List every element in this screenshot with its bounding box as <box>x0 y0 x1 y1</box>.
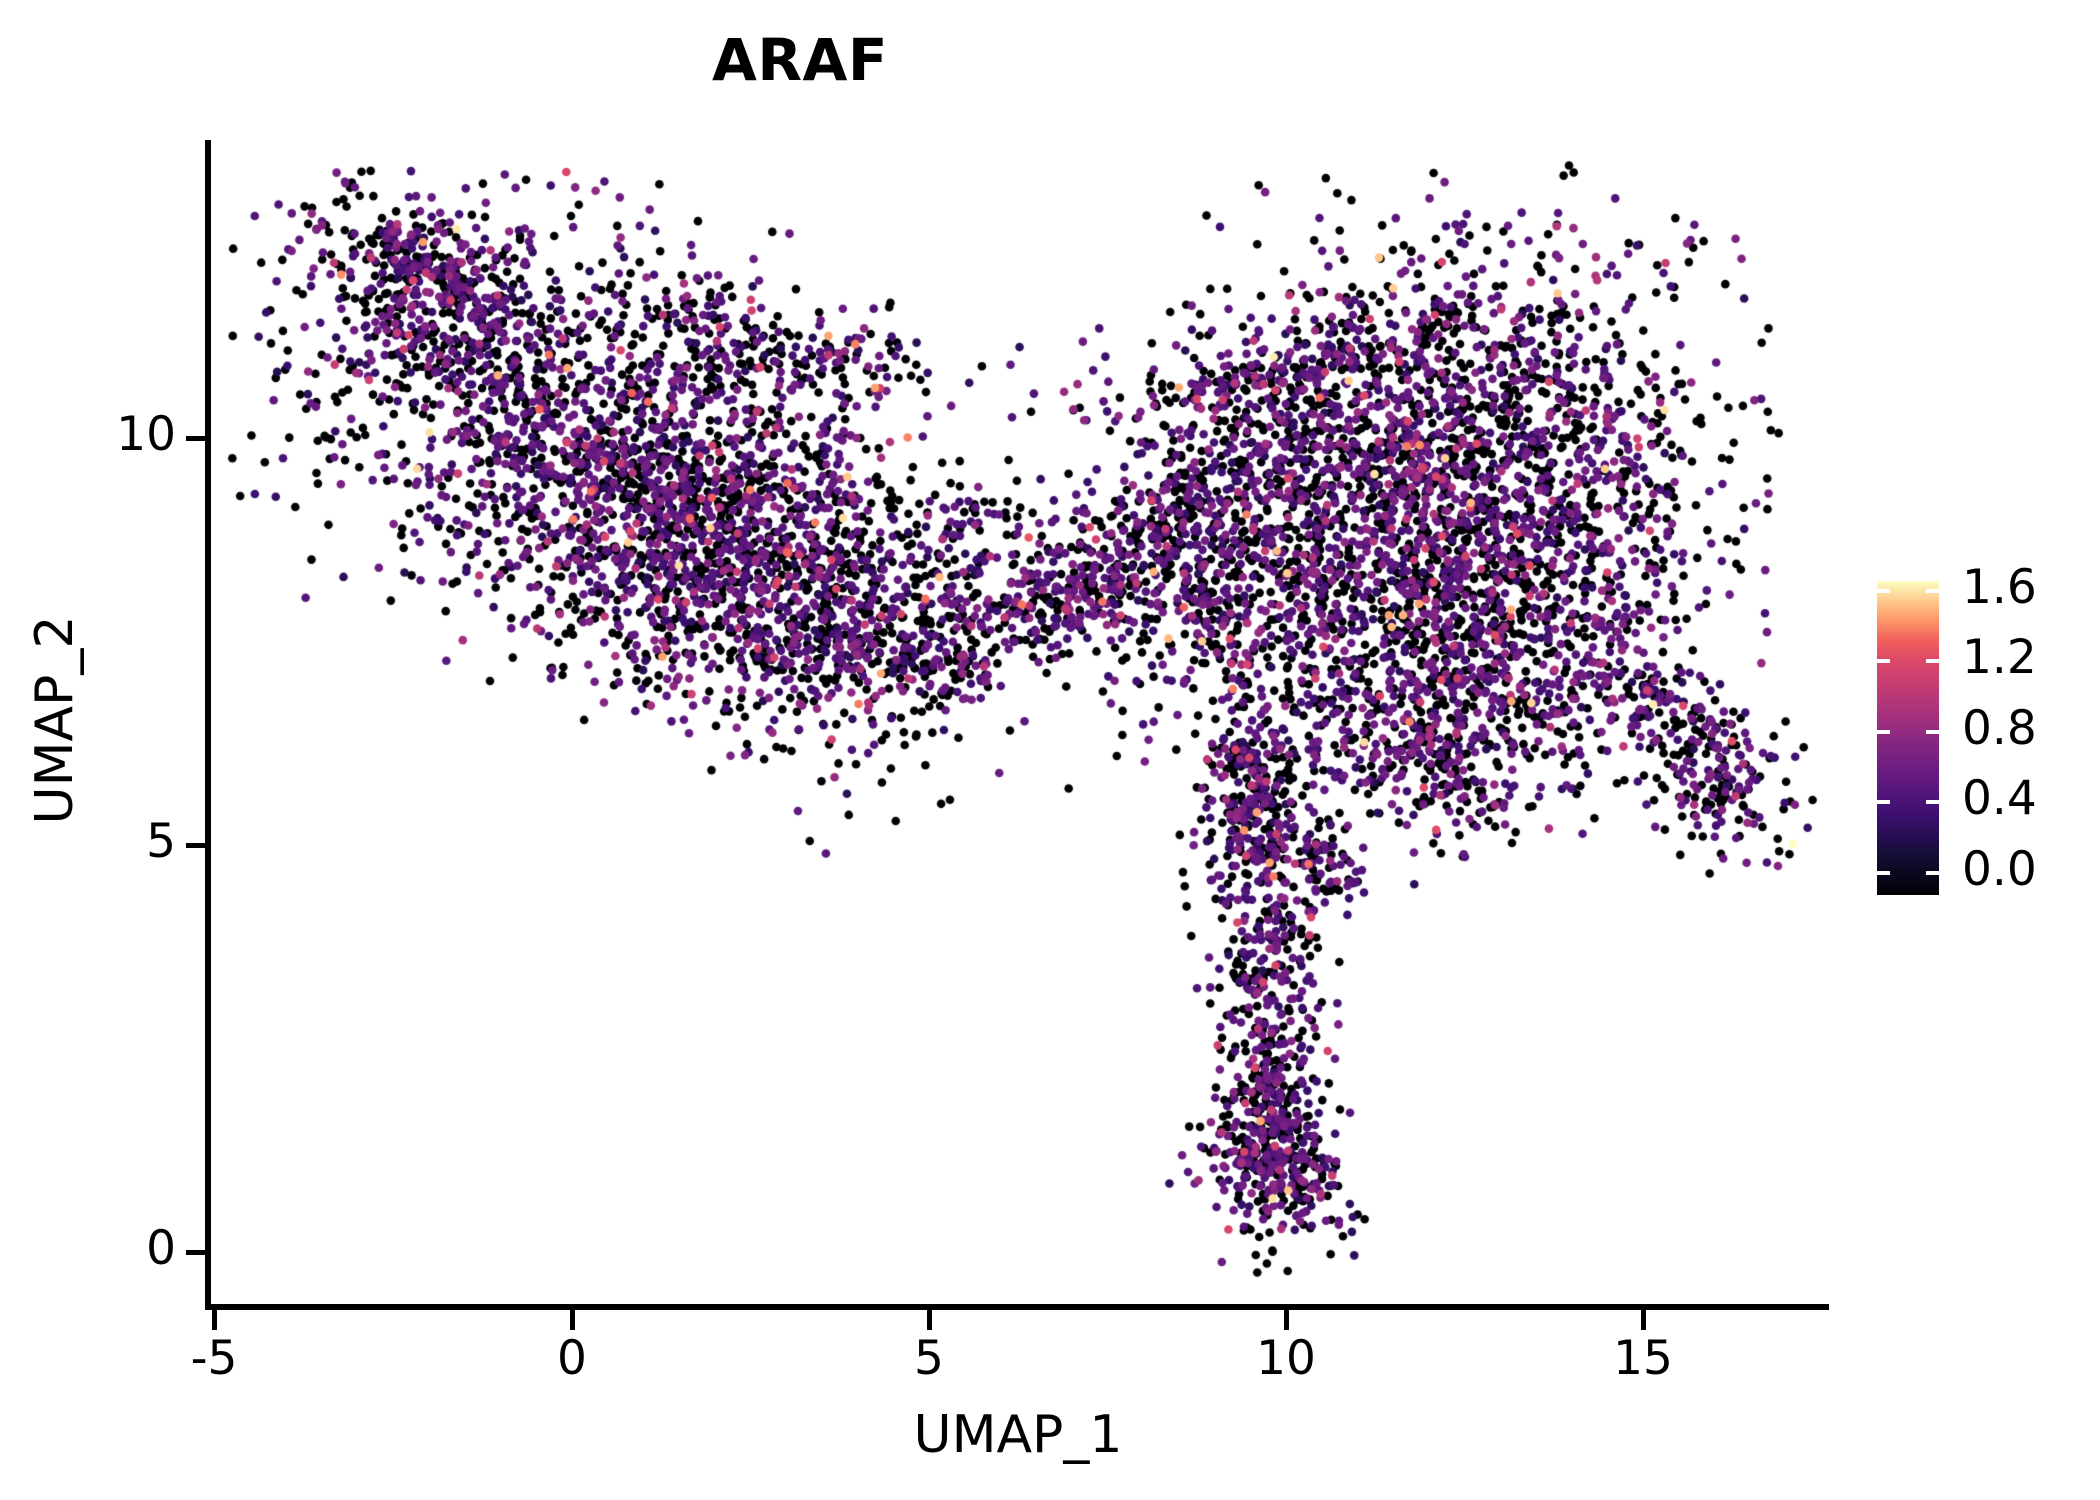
colorbar-tick-mark <box>1926 871 1939 875</box>
colorbar-tick-mark <box>1926 589 1939 593</box>
x-axis-tick <box>1641 1310 1646 1330</box>
colorbar-tick-mark <box>1877 659 1890 663</box>
colorbar-tick-label: 0.8 <box>1962 701 2037 756</box>
colorbar-tick-label: 0.0 <box>1962 842 2037 897</box>
x-axis-spine <box>205 1304 1829 1310</box>
colorbar-gradient <box>1877 581 1939 895</box>
plot-area <box>208 140 1828 1307</box>
colorbar-tick-label: 1.2 <box>1962 630 2037 685</box>
colorbar-tick-mark <box>1877 589 1890 593</box>
colorbar-tick-mark <box>1926 800 1939 804</box>
page-title: ARAF <box>0 26 1600 94</box>
y-axis-tick <box>186 843 206 848</box>
x-axis-tick-label: 10 <box>1206 1331 1366 1386</box>
colorbar-tick-label: 1.6 <box>1962 560 2037 615</box>
y-axis-spine <box>205 140 211 1310</box>
colorbar-tick-mark <box>1926 730 1939 734</box>
colorbar-tick-mark <box>1926 659 1939 663</box>
x-axis-tick <box>212 1310 217 1330</box>
x-axis-tick <box>927 1310 932 1330</box>
x-axis-tick <box>1284 1310 1289 1330</box>
colorbar-tick-mark <box>1877 730 1890 734</box>
x-axis-label: UMAP_1 <box>208 1405 1828 1465</box>
colorbar-tick-mark <box>1877 871 1890 875</box>
y-axis-tick <box>186 436 206 441</box>
x-axis-tick-label: -5 <box>134 1331 294 1386</box>
colorbar <box>1877 581 1939 895</box>
scatter-point-cloud <box>208 140 1828 1307</box>
colorbar-tick-label: 0.4 <box>1962 771 2037 826</box>
x-axis-tick-label: 5 <box>849 1331 1009 1386</box>
x-axis-tick <box>570 1310 575 1330</box>
umap-feature-plot-figure: ARAF 1050-5051015 UMAP_1 UMAP_2 1.61.20.… <box>0 0 2100 1500</box>
y-axis-label: UMAP_2 <box>25 135 85 1305</box>
y-axis-tick <box>186 1250 206 1255</box>
colorbar-tick-mark <box>1877 800 1890 804</box>
x-axis-tick-label: 15 <box>1563 1331 1723 1386</box>
x-axis-tick-label: 0 <box>492 1331 652 1386</box>
